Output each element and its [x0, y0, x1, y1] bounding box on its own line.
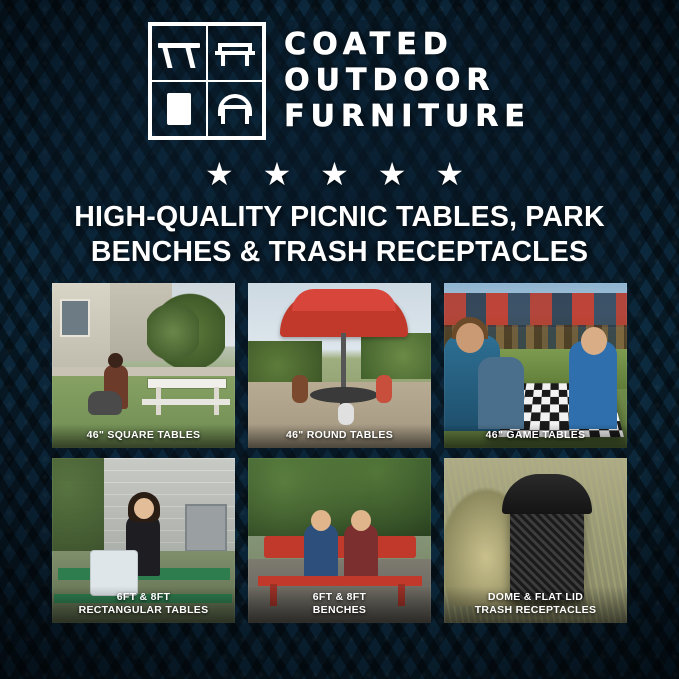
- brand-word-3: FURNITURE: [284, 102, 531, 132]
- gallery-caption: 46" SQUARE TABLES: [52, 424, 235, 448]
- headline: HIGH-QUALITY PICNIC TABLES, PARK BENCHES…: [30, 200, 649, 270]
- brand-wordmark: COATED OUTDOOR FURNITURE: [284, 30, 531, 132]
- gallery-caption: 6FT & 8FT BENCHES: [248, 586, 431, 623]
- gallery-caption: 46" ROUND TABLES: [248, 424, 431, 448]
- gallery-item-rectangular-tables[interactable]: 6FT & 8FT RECTANGULAR TABLES: [52, 458, 235, 623]
- gallery-item-trash-receptacles[interactable]: DOME & FLAT LID TRASH RECEPTACLES: [444, 458, 627, 623]
- gallery-caption: 46" GAME TABLES: [444, 424, 627, 448]
- gallery-caption-line-1: DOME & FLAT LID: [446, 591, 625, 604]
- logo-icon-grid: [148, 22, 266, 140]
- dome-lid-icon: [207, 81, 263, 137]
- gallery-item-square-tables[interactable]: 46" SQUARE TABLES: [52, 283, 235, 448]
- gallery-item-game-tables[interactable]: 46" GAME TABLES: [444, 283, 627, 448]
- gallery-item-benches[interactable]: 6FT & 8FT BENCHES: [248, 458, 431, 623]
- trash-can-icon: [151, 81, 207, 137]
- product-gallery-grid: 46" SQUARE TABLES 46" ROUND TABLES 46" G…: [52, 283, 627, 623]
- product-banner-image: COATED OUTDOOR FURNITURE ★ ★ ★ ★ ★ HIGH-…: [0, 0, 679, 679]
- picnic-table-icon: [151, 25, 207, 81]
- gallery-item-round-tables[interactable]: 46" ROUND TABLES: [248, 283, 431, 448]
- headline-line-2: BENCHES & TRASH RECEPTACLES: [30, 235, 649, 270]
- brand-word-1: COATED: [284, 30, 531, 60]
- brand-logo: COATED OUTDOOR FURNITURE: [0, 22, 679, 140]
- star-rating: ★ ★ ★ ★ ★: [0, 158, 679, 190]
- park-bench-icon: [207, 25, 263, 81]
- gallery-caption-line-1: 6FT & 8FT: [250, 591, 429, 604]
- gallery-caption-line-2: TRASH RECEPTACLES: [446, 604, 625, 617]
- brand-word-2: OUTDOOR: [284, 66, 531, 96]
- gallery-caption-line-2: RECTANGULAR TABLES: [54, 604, 233, 617]
- gallery-caption: 6FT & 8FT RECTANGULAR TABLES: [52, 586, 235, 623]
- gallery-caption: DOME & FLAT LID TRASH RECEPTACLES: [444, 586, 627, 623]
- gallery-caption-line-2: BENCHES: [250, 604, 429, 617]
- gallery-caption-line-1: 6FT & 8FT: [54, 591, 233, 604]
- headline-line-1: HIGH-QUALITY PICNIC TABLES, PARK: [30, 200, 649, 235]
